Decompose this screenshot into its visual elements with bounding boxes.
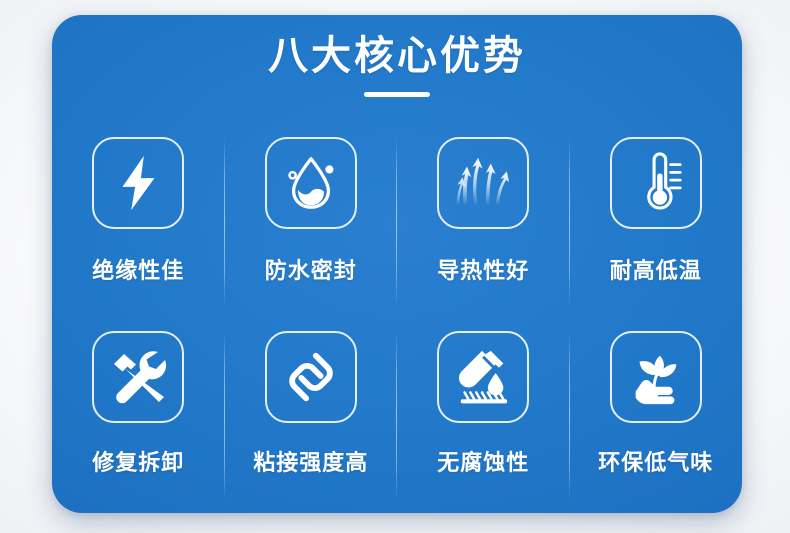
feature-label: 耐高低温 bbox=[610, 253, 702, 285]
heat-arrows-icon bbox=[437, 137, 529, 229]
feature-item-non-corrosive[interactable]: 无腐蚀性 bbox=[397, 319, 570, 513]
hammer-wrench-icon bbox=[92, 331, 184, 423]
title-underline bbox=[364, 92, 430, 97]
feature-label: 防水密封 bbox=[265, 253, 357, 285]
feature-item-thermal-conductivity[interactable]: 导热性好 bbox=[397, 125, 570, 319]
feature-item-insulation[interactable]: 绝缘性佳 bbox=[52, 125, 225, 319]
test-tube-drip-icon bbox=[437, 331, 529, 423]
chain-link-icon bbox=[265, 331, 357, 423]
feature-item-repair-removal[interactable]: 修复拆卸 bbox=[52, 319, 225, 513]
promo-banner: 八大核心优势 绝缘性佳 bbox=[0, 0, 790, 533]
feature-card: 八大核心优势 绝缘性佳 bbox=[52, 15, 742, 513]
feature-label: 无腐蚀性 bbox=[437, 445, 529, 477]
feature-label: 导热性好 bbox=[437, 253, 529, 285]
hand-leaf-icon bbox=[610, 331, 702, 423]
feature-label: 绝缘性佳 bbox=[92, 253, 184, 285]
water-drop-icon bbox=[265, 137, 357, 229]
feature-label: 修复拆卸 bbox=[92, 445, 184, 477]
feature-label: 环保低气味 bbox=[598, 445, 713, 477]
feature-item-temperature-resistance[interactable]: 耐高低温 bbox=[570, 125, 743, 319]
feature-item-eco-friendly[interactable]: 环保低气味 bbox=[570, 319, 743, 513]
lightning-bolt-icon bbox=[92, 137, 184, 229]
feature-label: 粘接强度高 bbox=[253, 445, 368, 477]
thermometer-icon bbox=[610, 137, 702, 229]
page-title: 八大核心优势 bbox=[52, 15, 742, 80]
card-header: 八大核心优势 bbox=[52, 15, 742, 97]
feature-grid: 绝缘性佳 防水密封 bbox=[52, 125, 742, 513]
feature-item-bond-strength[interactable]: 粘接强度高 bbox=[225, 319, 398, 513]
feature-item-waterproof[interactable]: 防水密封 bbox=[225, 125, 398, 319]
